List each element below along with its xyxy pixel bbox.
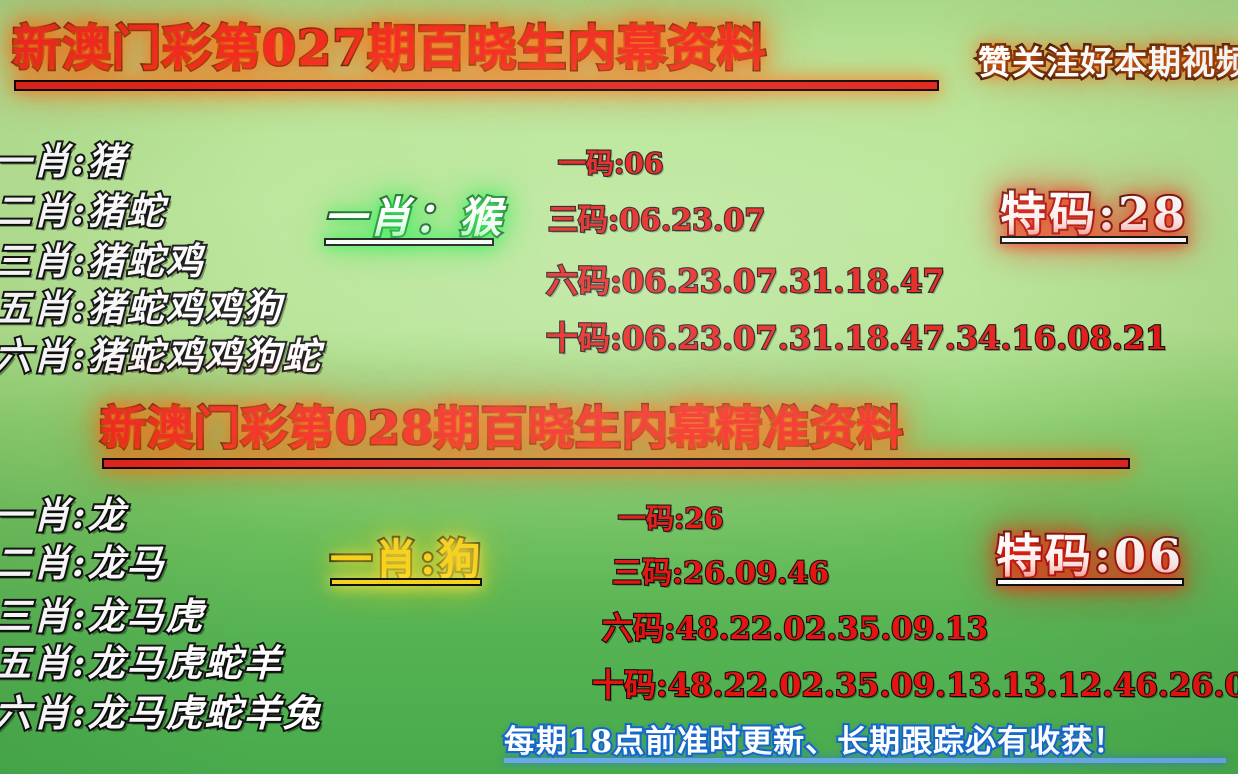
section-1-title: 新澳门彩第027期百晓生内幕资料 xyxy=(12,18,767,78)
section-1-zodiac-row-2: 二肖:猪蛇 xyxy=(0,181,166,235)
section-2-number-value-3: 48.22.02.35.09.13 xyxy=(675,611,988,647)
section-2-zodiac-row-4: 五肖:龙马虎蛇羊 xyxy=(0,633,283,687)
section-1-number-row-4: 十码:06.23.07.31.18.47.34.16.08.21 xyxy=(546,313,1167,359)
section-2-number-label-1: 一码: xyxy=(618,502,684,535)
section-2-highlight-underline xyxy=(330,578,482,586)
section-2-title-banner: 新澳门彩第028期百晓生内幕精准资料 xyxy=(100,400,904,456)
section-2-special-underline xyxy=(996,578,1184,586)
promo-text: 赞关注好本期视频 xyxy=(978,36,1238,84)
section-2-zodiac-row-3: 三肖:龙马虎 xyxy=(0,586,205,640)
section-2-number-row-4: 十码:48.22.02.35.09.13.13.12.46.26.03 xyxy=(592,660,1238,706)
section-2-zodiac-row-5: 六肖:龙马虎蛇羊兔 xyxy=(0,683,322,737)
section-2-title: 新澳门彩第028期百晓生内幕精准资料 xyxy=(100,400,904,456)
section-1-number-value-2: 06.23.07 xyxy=(619,203,765,238)
section-1-highlight-badge: 一肖：猴 xyxy=(324,184,504,245)
section-2-highlight-badge: 一肖:狗 xyxy=(330,526,484,587)
section-1-zodiac-row-5: 六肖:猪蛇鸡鸡狗蛇 xyxy=(0,326,322,380)
section-1-zodiac-row-4: 五肖:猪蛇鸡鸡狗 xyxy=(0,278,283,332)
section-1-highlight-underline xyxy=(324,238,494,246)
section-2-special-text: 特码:06 xyxy=(996,520,1184,586)
poster-canvas: 新澳门彩第027期百晓生内幕资料 赞关注好本期视频 一肖:猪 二肖:猪蛇 三肖:… xyxy=(0,0,1238,774)
section-2-number-label-2: 三码: xyxy=(612,556,683,591)
section-1-special-text: 特码:28 xyxy=(1000,178,1188,244)
section-1-number-row-3: 六码:06.23.07.31.18.47 xyxy=(546,256,945,302)
section-2-zodiac-row-1: 一肖:龙 xyxy=(0,485,127,539)
section-1-highlight-text: 一肖：猴 xyxy=(324,184,504,245)
section-2-number-row-3: 六码:48.22.02.35.09.13 xyxy=(602,603,988,648)
footer-banner: 每期18点前准时更新、长期跟踪必有收获！ xyxy=(504,716,1125,761)
section-1-number-label-3: 六码: xyxy=(546,262,622,300)
section-1-title-banner: 新澳门彩第027期百晓生内幕资料 xyxy=(12,18,767,78)
section-1-number-label-2: 三码: xyxy=(548,203,619,238)
section-1-zodiac-row-3: 三肖:猪蛇鸡 xyxy=(0,231,205,285)
section-2-title-underline xyxy=(102,458,1130,469)
section-1-zodiac-row-1: 一肖:猪 xyxy=(0,131,127,185)
section-2-number-row-1: 一码:26 xyxy=(618,497,723,537)
section-2-zodiac-row-2: 二肖:龙马 xyxy=(0,533,166,587)
section-2-number-value-4: 48.22.02.35.09.13.13.12.46.26.03 xyxy=(668,666,1238,704)
section-1-title-underline xyxy=(14,80,939,91)
section-1-number-row-2: 三码:06.23.07 xyxy=(548,195,765,239)
section-2-number-value-1: 26 xyxy=(684,502,723,535)
section-1-number-value-4: 06.23.07.31.18.47.34.16.08.21 xyxy=(622,319,1168,357)
footer-underline xyxy=(504,758,1226,763)
section-1-special-underline xyxy=(1000,236,1188,244)
section-2-number-label-3: 六码: xyxy=(602,611,675,647)
section-1-number-value-1: 06 xyxy=(624,147,663,180)
section-2-number-value-2: 26.09.46 xyxy=(683,556,829,591)
section-2-number-row-2: 三码:26.09.46 xyxy=(612,548,829,592)
footer-text: 每期18点前准时更新、长期跟踪必有收获！ xyxy=(504,716,1125,761)
section-1-number-label-4: 十码: xyxy=(546,319,622,357)
section-1-number-value-3: 06.23.07.31.18.47 xyxy=(622,262,945,300)
section-1-special-badge: 特码:28 xyxy=(1000,178,1188,244)
section-2-special-badge: 特码:06 xyxy=(996,520,1184,586)
section-1-number-label-1: 一码: xyxy=(558,147,624,180)
section-1-number-row-1: 一码:06 xyxy=(558,142,663,182)
section-2-number-label-4: 十码: xyxy=(592,666,668,704)
